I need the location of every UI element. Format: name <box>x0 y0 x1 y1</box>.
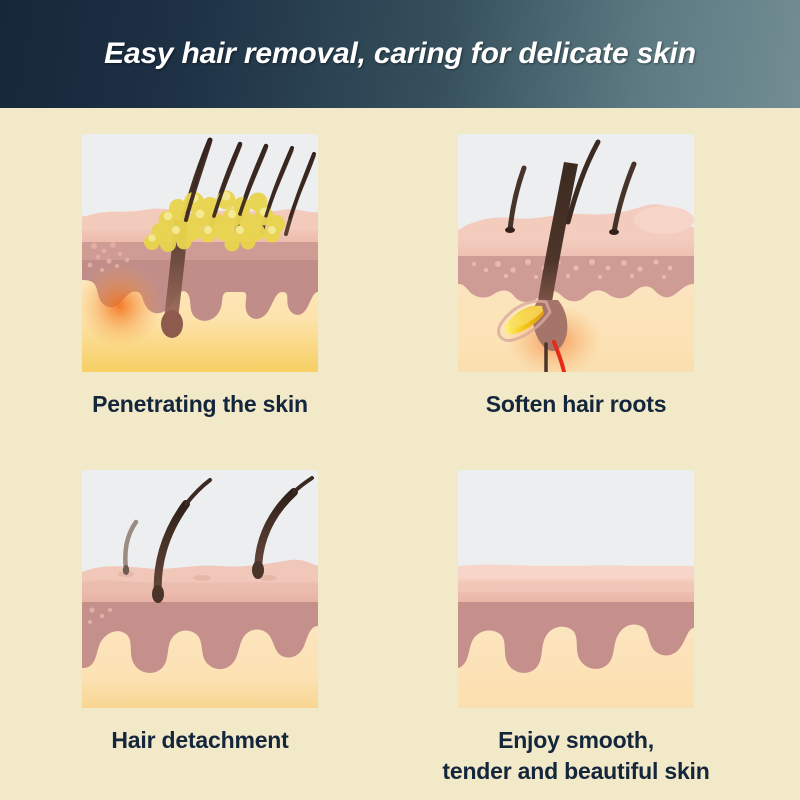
step-caption-3: Hair detachment <box>82 725 318 756</box>
step-caption-4: Enjoy smooth, tender and beautiful skin <box>426 725 726 786</box>
steps-grid: Penetrating the skin <box>0 108 800 800</box>
step-caption-4-line-1: Enjoy smooth, <box>426 725 726 756</box>
step-card-3: Hair detachment <box>82 470 318 756</box>
banner-title: Easy hair removal, caring for delicate s… <box>104 37 696 71</box>
step-card-2: Soften hair roots <box>458 134 694 420</box>
illustration-hair-detachment <box>82 470 318 708</box>
step-card-4: Enjoy smooth, tender and beautiful skin <box>458 470 726 786</box>
step-card-1: Penetrating the skin <box>82 134 318 420</box>
header-banner: Easy hair removal, caring for delicate s… <box>0 0 800 108</box>
step-caption-1: Penetrating the skin <box>82 389 318 420</box>
step-caption-4-line-2: tender and beautiful skin <box>426 756 726 787</box>
illustration-soften-hair-roots <box>458 134 694 372</box>
illustration-penetrating-the-skin <box>82 134 318 372</box>
illustration-smooth-skin <box>458 470 694 708</box>
infographic-page: Easy hair removal, caring for delicate s… <box>0 0 800 800</box>
step-caption-2: Soften hair roots <box>458 389 694 420</box>
